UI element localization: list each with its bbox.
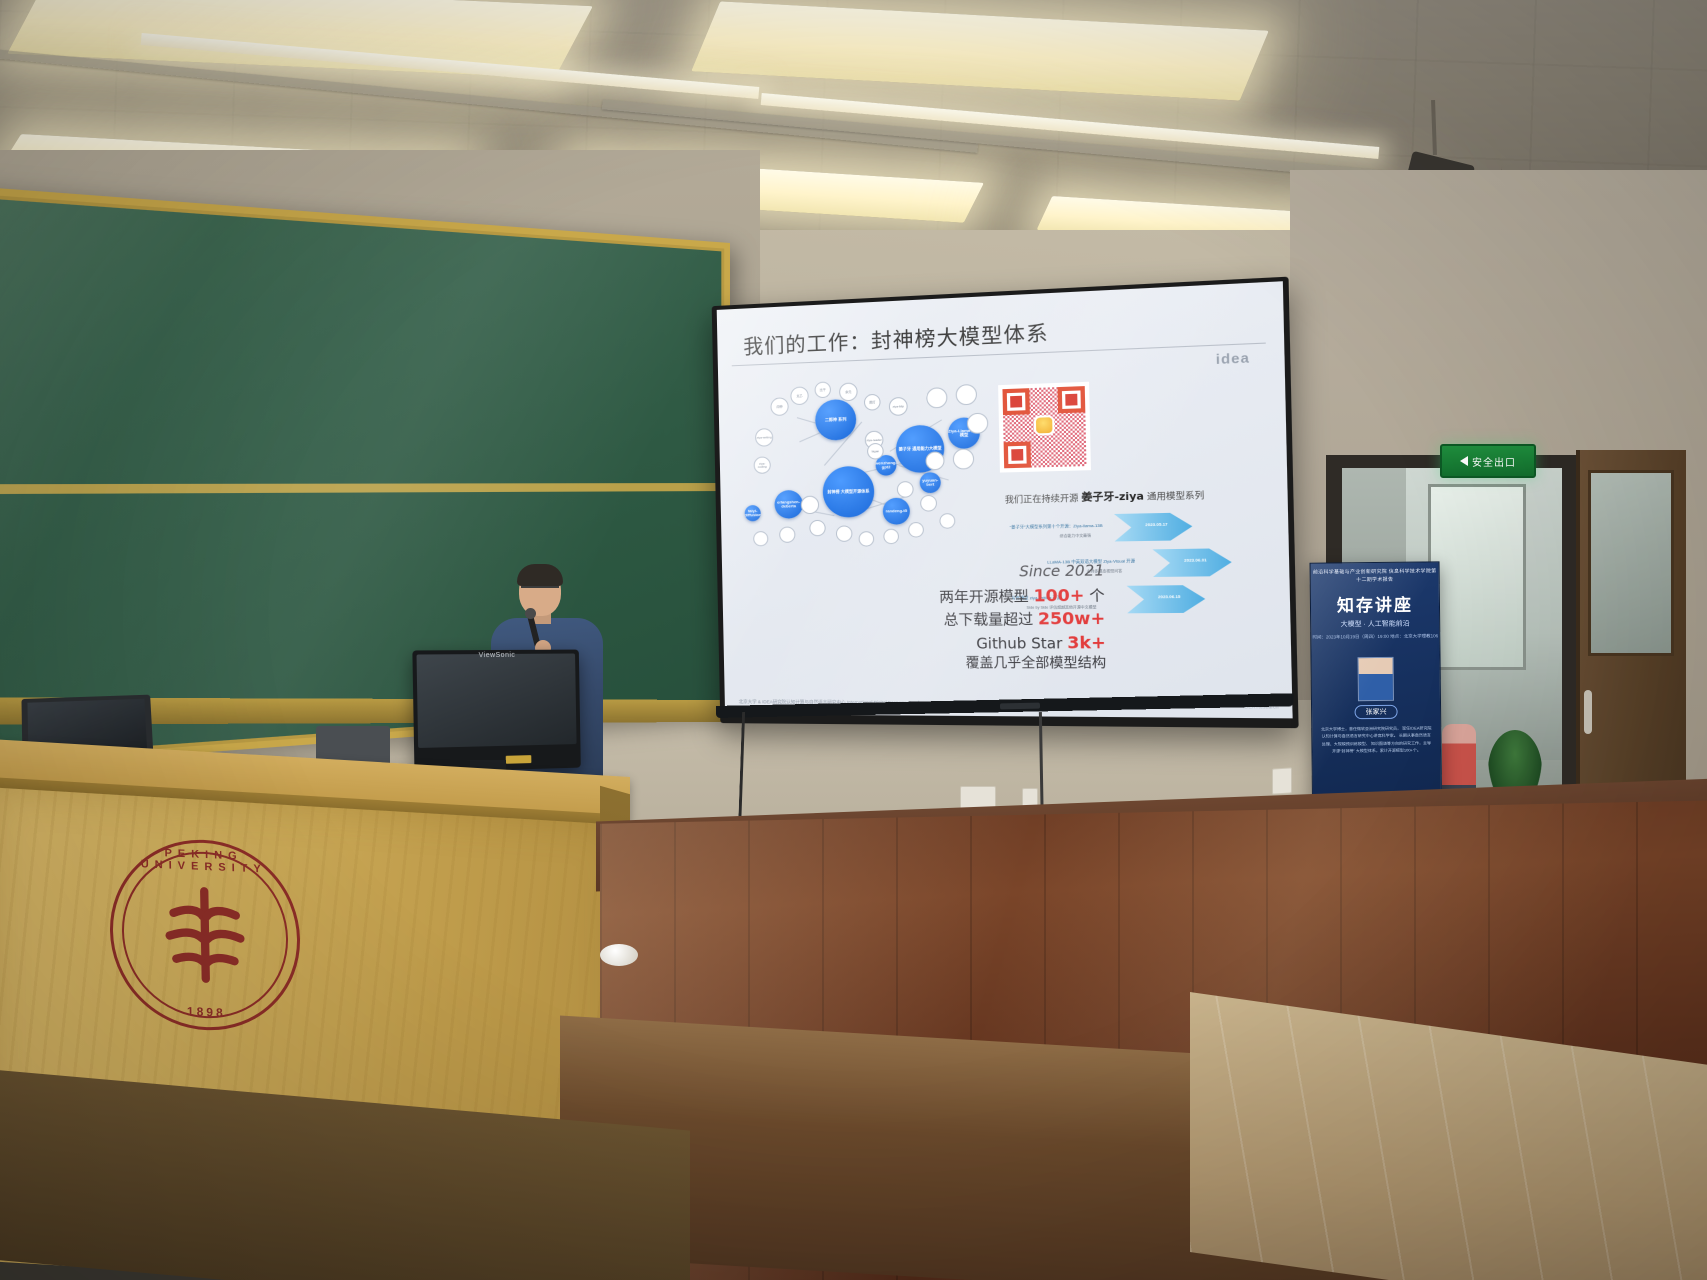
exit-sign-label: 安全出口 [1472, 454, 1516, 469]
opensource-prefix: 我们正在持续开源 [1005, 494, 1082, 506]
viewsonic-monitor[interactable]: ViewSonic [412, 650, 580, 773]
graph-node [897, 481, 914, 498]
exit-arrow-icon [1460, 456, 1468, 466]
graph-node: yuyuan-bert [920, 472, 941, 493]
emergency-exit-sign: 安全出口 [1440, 444, 1536, 478]
graph-node: 闻仲 [770, 397, 788, 416]
graph-hub-node: 封神榜 大模型开源体系 [822, 466, 874, 518]
opensource-highlight: 姜子牙-ziya [1081, 491, 1144, 504]
blackboard-glare [0, 187, 721, 770]
wechat-qr-code[interactable] [998, 382, 1091, 473]
graph-node: 太乙 [790, 386, 809, 405]
qr-finder-icon [1057, 386, 1085, 413]
graph-node: ziya-writing [755, 428, 773, 447]
stats-label: Github Star [976, 635, 1067, 652]
qr-center-badge-icon [1036, 418, 1053, 434]
opensource-announcement: 我们正在持续开源 姜子牙-ziya 通用模型系列 [1005, 485, 1205, 505]
monitor-logo-icon [505, 755, 531, 764]
graph-node: ziya-blip [889, 397, 908, 416]
standee-speaker-bio: 北京大学博士，曾任微软亚洲研究院研究员， 现任IDEA研究院认知计算与自然语言研… [1320, 724, 1432, 755]
stats-since: Since 2021 [843, 563, 1105, 583]
qr-finder-icon [1004, 441, 1031, 468]
speaker-hair [517, 564, 563, 586]
wall-switch[interactable] [1272, 767, 1292, 794]
graph-node [953, 448, 975, 469]
microphone-head-icon [525, 608, 536, 619]
graph-node [925, 451, 944, 470]
qr-finder-icon [1002, 388, 1029, 415]
monitor-brand-label: ViewSonic [479, 652, 516, 659]
stats-label: 总下载量超过 [943, 612, 1038, 629]
timeline-date: 2023.06.01 [1184, 557, 1207, 563]
standee-speaker-name: 张家兴 [1355, 705, 1398, 719]
model-family-graph: 二郎神 系列 封神榜 大模型开源体系 姜子牙 通用能力大模型 Ziya-Llam… [736, 375, 998, 566]
display-brand-plate [1000, 703, 1040, 710]
blackboard [0, 174, 730, 782]
lecture-hall-photo: 我们的工作：封神榜大模型体系 idea 二郎神 系列 封神榜 大模型开源体系 姜… [0, 0, 1707, 1280]
graph-node [908, 522, 924, 538]
graph-node [809, 520, 826, 537]
graph-node [859, 531, 875, 547]
door-handle[interactable] [1584, 690, 1592, 734]
opensource-suffix: 通用模型系列 [1144, 491, 1204, 503]
graph-node [836, 525, 853, 542]
stats-coverage: 覆盖几乎全部模型结构 [845, 655, 1107, 674]
opensource-stats: Since 2021 两年开源模型 100+ 个 总下载量超过 250w+ Gi… [843, 563, 1107, 674]
graph-node [956, 384, 978, 405]
standee-meta: 时间：2023年10月19日（周四）19:00 地点：北京大学理教106 [1311, 632, 1439, 641]
slide-canvas: 我们的工作：封神榜大模型体系 idea 二郎神 系列 封神榜 大模型开源体系 姜… [717, 281, 1293, 718]
stats-unit: 个 [1084, 588, 1105, 605]
standee-title: 知存讲座 [1311, 590, 1439, 616]
graph-node: 燃灯 [864, 394, 881, 411]
monitor-screen [417, 653, 577, 747]
graph-node: 比干 [814, 381, 831, 398]
corridor-window [1428, 484, 1526, 670]
graph-node [967, 413, 989, 434]
stats-row: 两年开源模型 100+ 个 [843, 584, 1105, 609]
stats-value: 250w+ [1038, 609, 1106, 629]
speaker-glasses [521, 586, 559, 596]
stats-label: 两年开源模型 [939, 589, 1034, 606]
graph-node [753, 531, 768, 546]
blackboard-surface [0, 182, 724, 773]
graph-node [926, 387, 947, 408]
presentation-display[interactable]: 我们的工作：封神榜大模型体系 idea 二郎神 系列 封神榜 大模型开源体系 姜… [712, 277, 1299, 729]
door-glass-pane [1588, 470, 1674, 656]
stats-value: 3k+ [1067, 632, 1106, 652]
graph-node [939, 513, 955, 529]
timeline-caption: “姜子牙”大模型系列第十个开源：Ziya-llama-13B [1010, 523, 1103, 531]
graph-node [920, 495, 937, 512]
timeline-date: 2023.06.15 [1158, 594, 1181, 600]
timeline-desc: 综合能力中文最强 [1060, 533, 1092, 539]
peking-university-seal: PEKING UNIVERSITY 1898 [108, 836, 301, 1034]
seal-glyph-icon [152, 881, 258, 989]
floor-object [600, 944, 638, 966]
graph-node [779, 526, 795, 542]
graph-node: 余元 [839, 382, 858, 401]
standee-speaker-photo [1358, 657, 1394, 701]
graph-node [883, 529, 899, 545]
timeline-date: 2023.05.17 [1145, 521, 1167, 527]
idea-logo: idea [1216, 350, 1251, 367]
standee-organization: 前沿科学基础与产业创新研究院 信息科学技术学院第十二期学术报告 [1311, 568, 1439, 584]
stats-value: 100+ [1033, 585, 1084, 605]
graph-node: randeng-t5 [883, 498, 911, 525]
standee-subtitle: 大模型 · 人工智能前沿 [1311, 618, 1439, 629]
stats-row: 总下载量超过 250w+ [844, 607, 1106, 632]
graph-node: taiyi-diffusion [745, 505, 761, 521]
graph-node: erlangshen-deberta [774, 490, 803, 519]
graph-node: ziya-coding [754, 456, 771, 474]
stats-row: Github Star 3k+ [844, 631, 1106, 655]
